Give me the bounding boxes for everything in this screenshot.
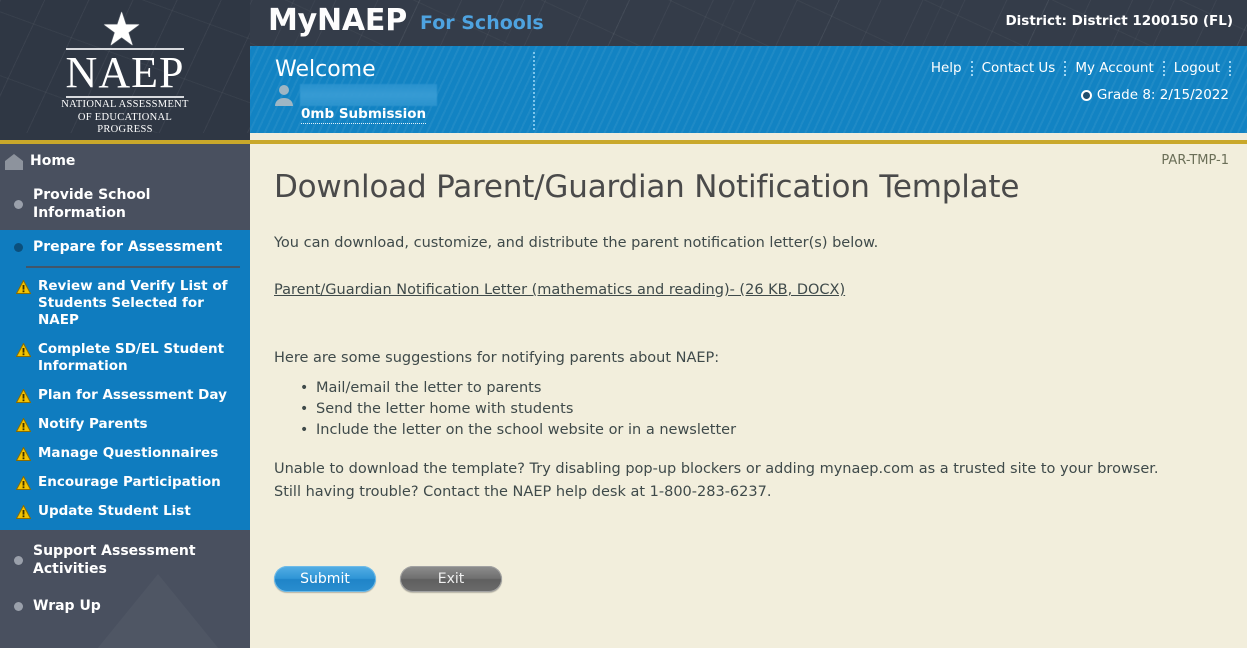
list-item: Mail/email the letter to parents xyxy=(298,378,736,398)
suggestions-heading: Here are some suggestions for notifying … xyxy=(274,350,719,366)
sidebar-item-prepare-for-assessment[interactable]: Prepare for Assessment xyxy=(0,230,250,264)
download-template-link[interactable]: Parent/Guardian Notification Letter (mat… xyxy=(274,282,845,298)
sidebar-item-complete-sd-el-student-information[interactable]: Complete SD/EL Student Information xyxy=(0,335,250,381)
welcome-divider xyxy=(533,52,535,130)
logo-subtitle: NATIONAL ASSESSMENT OF EDUCATIONAL PROGR… xyxy=(0,99,250,137)
warning-icon xyxy=(16,418,31,432)
district-label: District: District 1200150 (FL) xyxy=(1005,13,1233,29)
sidebar-item-label: Encourage Participation xyxy=(38,474,221,491)
sidebar-item-label: Home xyxy=(30,152,75,170)
bullet-icon xyxy=(14,602,23,611)
sidebar-item-label: Update Student List xyxy=(38,503,191,520)
bullet-icon xyxy=(14,556,23,565)
welcome-bar: Welcome 0mb Submission Help Contact Us M… xyxy=(250,46,1247,133)
sidebar-item-support-assessment-activities[interactable]: Support Assessment Activities xyxy=(0,530,250,586)
naep-logo: ★ NAEP NATIONAL ASSESSMENT OF EDUCATIONA… xyxy=(0,0,250,140)
utility-nav: Help Contact Us My Account Logout xyxy=(922,60,1231,76)
exit-button[interactable]: Exit xyxy=(400,566,502,592)
warning-icon xyxy=(16,280,31,294)
my-account-link[interactable]: My Account xyxy=(1066,60,1162,76)
list-item: Send the letter home with students xyxy=(298,399,736,419)
radio-dot-icon xyxy=(1081,90,1092,101)
logout-link[interactable]: Logout xyxy=(1165,60,1229,76)
warning-icon xyxy=(16,389,31,403)
user-name-redacted xyxy=(300,84,437,106)
sidebar-item-manage-questionnaires[interactable]: Manage Questionnaires xyxy=(0,439,250,468)
sidebar-item-label: Prepare for Assessment xyxy=(33,238,222,256)
sidebar-item-plan-for-assessment-day[interactable]: Plan for Assessment Day xyxy=(0,381,250,410)
sidebar-item-update-student-list[interactable]: Update Student List xyxy=(0,497,250,530)
sidebar-section-prepare-for-assessment: Prepare for Assessment Review and Verify… xyxy=(0,230,250,530)
troubleshooting-text: Unable to download the template? Try dis… xyxy=(274,458,1159,504)
section-divider xyxy=(26,266,240,268)
sidebar-item-encourage-participation[interactable]: Encourage Participation xyxy=(0,468,250,497)
warning-icon xyxy=(16,343,31,357)
grade-label: Grade 8: 2/15/2022 xyxy=(1097,87,1229,103)
welcome-title: Welcome xyxy=(275,57,376,82)
warning-icon xyxy=(16,447,31,461)
bullet-icon xyxy=(14,243,23,252)
logo-acronym: NAEP xyxy=(0,50,250,96)
sidebar-item-label: Manage Questionnaires xyxy=(38,445,218,462)
suggestions-list: Mail/email the letter to parents Send th… xyxy=(298,378,736,441)
star-icon: ★ xyxy=(101,6,142,52)
sidebar-item-label: Complete SD/EL Student Information xyxy=(38,341,233,375)
main-content: PAR-TMP-1 Download Parent/Guardian Notif… xyxy=(250,144,1247,648)
page-root: MyNAEP For Schools District: District 12… xyxy=(0,0,1247,648)
page-code: PAR-TMP-1 xyxy=(1161,153,1229,168)
sidebar-item-label: Notify Parents xyxy=(38,416,148,433)
submit-button[interactable]: Submit xyxy=(274,566,376,592)
submission-link[interactable]: 0mb Submission xyxy=(301,106,426,124)
brand-title: MyNAEP xyxy=(268,3,407,38)
home-icon xyxy=(4,153,24,170)
sidebar-nav: Home Provide School Information Prepare … xyxy=(0,144,250,648)
nav-separator xyxy=(1229,61,1231,76)
sidebar-item-label: Wrap Up xyxy=(33,597,101,615)
sidebar-item-provide-school-information[interactable]: Provide School Information xyxy=(0,178,250,230)
sidebar-item-notify-parents[interactable]: Notify Parents xyxy=(0,410,250,439)
action-button-row: Submit Exit xyxy=(274,566,502,592)
logo-rule-bottom xyxy=(66,96,184,98)
header-dark-strip xyxy=(0,133,250,140)
sidebar-item-label: Review and Verify List of Students Selec… xyxy=(38,278,233,329)
bullet-icon xyxy=(14,200,23,209)
troubleshooting-line-2: Still having trouble? Contact the NAEP h… xyxy=(274,481,1159,504)
logo-subtitle-line-2: OF EDUCATIONAL xyxy=(0,112,250,125)
page-title: Download Parent/Guardian Notification Te… xyxy=(274,169,1019,205)
sidebar-item-review-and-verify-list[interactable]: Review and Verify List of Students Selec… xyxy=(0,272,250,335)
person-icon xyxy=(274,84,294,106)
list-item: Include the letter on the school website… xyxy=(298,420,736,440)
grade-assessment-date: Grade 8: 2/15/2022 xyxy=(1081,87,1229,103)
sidebar-item-home[interactable]: Home xyxy=(0,144,250,178)
brand-subtitle: For Schools xyxy=(420,12,544,34)
sidebar-item-label: Support Assessment Activities xyxy=(33,542,240,578)
sidebar-item-label: Plan for Assessment Day xyxy=(38,387,227,404)
logo-subtitle-line-1: NATIONAL ASSESSMENT xyxy=(0,99,250,112)
intro-text: You can download, customize, and distrib… xyxy=(274,235,878,251)
sidebar-item-label: Provide School Information xyxy=(33,186,240,222)
help-link[interactable]: Help xyxy=(922,60,971,76)
contact-us-link[interactable]: Contact Us xyxy=(973,60,1065,76)
warning-icon xyxy=(16,505,31,519)
sidebar-item-wrap-up[interactable]: Wrap Up xyxy=(0,586,250,623)
troubleshooting-line-1: Unable to download the template? Try dis… xyxy=(274,458,1159,481)
warning-icon xyxy=(16,476,31,490)
